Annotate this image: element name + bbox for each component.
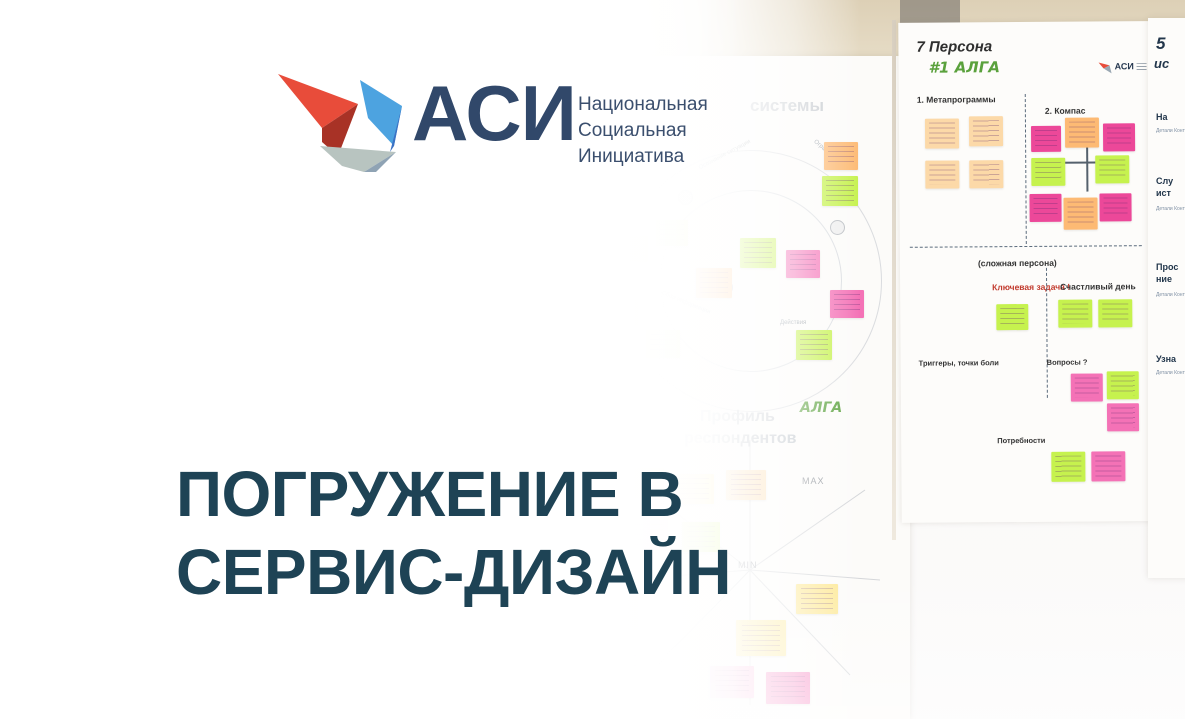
radial-node-3 <box>718 280 733 295</box>
sticky-note <box>796 584 838 614</box>
poster-right-h3: Прос <box>1156 262 1178 272</box>
sticky-note <box>1063 197 1097 229</box>
poster-section-compass: 2. Компас <box>1045 106 1086 116</box>
poster-persona-subtitle: #1 АЛГА <box>929 58 1000 76</box>
sticky-note <box>969 116 1003 146</box>
sticky-note <box>1051 452 1085 482</box>
asi-logo: АСИ Национальная Социальная Инициатива <box>276 52 716 172</box>
poster-right-h1: На <box>1156 112 1168 122</box>
poster-right-title: ис <box>1154 56 1169 71</box>
board-label-profile-1: Профиль <box>700 408 775 426</box>
poster-right-h3b: ние <box>1156 274 1172 284</box>
sticky-note <box>726 470 766 500</box>
sticky-note <box>1029 194 1061 222</box>
poster-right-body-3: Детали Контекст <box>1156 292 1185 300</box>
poster-right-h2: Слу <box>1156 176 1173 186</box>
sticky-note <box>766 672 810 704</box>
sticky-note <box>696 268 732 298</box>
ceiling-dark-patch <box>900 0 960 26</box>
sticky-note <box>822 176 858 206</box>
poster-divider-v2 <box>1046 268 1048 398</box>
sticky-note <box>925 118 959 148</box>
radial-label-2: Сбор информации <box>661 290 711 315</box>
ceiling-beam <box>600 0 1185 58</box>
sticky-note <box>1091 451 1125 481</box>
sticky-note <box>1031 158 1065 186</box>
board-label-max: MAX <box>802 476 825 486</box>
poster-right-h4: Узна <box>1156 354 1176 364</box>
compass-axis-h <box>1059 161 1115 163</box>
poster-section-happyday: Счастливый день <box>1060 281 1136 292</box>
poster-divider-v1 <box>1025 94 1027 244</box>
board-label-alga: АЛГА <box>800 400 842 416</box>
banner-root: системы Осознание ситуации Сбор информац… <box>0 0 1185 719</box>
sticky-note <box>1103 123 1135 151</box>
poster-right-h2b: ист <box>1156 188 1171 198</box>
poster-section-triggers: Триггеры, точки боли <box>919 358 999 368</box>
board-label-profile-2: респондентов <box>684 430 796 448</box>
sticky-note <box>1107 403 1139 431</box>
sticky-note <box>1071 373 1103 401</box>
poster-divider-h1 <box>910 245 1142 248</box>
radial-label-3: Ограничения <box>812 139 844 167</box>
page-title: ПОГРУЖЕНИЕ В СЕРВИС-ДИЗАЙН <box>176 455 731 611</box>
poster-right-body-1: Детали Контекст <box>1156 128 1185 136</box>
sticky-note <box>1058 300 1092 328</box>
poster-section-questions: Вопросы ? <box>1047 358 1088 367</box>
sticky-note <box>1098 299 1132 327</box>
sticky-note <box>1065 117 1099 147</box>
sticky-note <box>824 142 858 170</box>
poster-section-complex: (сложная персона) <box>978 258 1057 269</box>
sticky-note <box>740 238 776 268</box>
sticky-note <box>1095 155 1129 183</box>
sticky-note <box>1099 193 1131 221</box>
poster-right-body-4: Детали Контекст <box>1156 370 1185 378</box>
sticky-note <box>830 290 864 318</box>
board-edge <box>892 20 896 540</box>
asi-tagline: Национальная Социальная Инициатива <box>578 92 708 170</box>
mini-asi-word: АСИ <box>1115 61 1134 71</box>
sticky-note <box>969 160 1003 188</box>
radial-diagram-outer <box>620 150 882 412</box>
radial-node-2 <box>830 220 845 235</box>
compass-axis-v <box>1086 134 1088 192</box>
sticky-note <box>1107 371 1139 399</box>
poster-persona-title: 7 Персона <box>916 38 992 56</box>
radial-label-4: Действия <box>780 320 806 326</box>
radial-node-1 <box>678 190 693 205</box>
mini-asi-mark <box>1099 61 1115 74</box>
sticky-note <box>996 304 1028 330</box>
sticky-note <box>796 330 832 360</box>
board-label-min: MIN <box>738 560 758 570</box>
asi-wordmark: АСИ <box>412 74 576 152</box>
poster-right: 5 ис На Детали Контекст Слу ист Детали К… <box>1148 18 1185 578</box>
sticky-note <box>608 300 638 326</box>
sticky-note <box>656 220 688 246</box>
sticky-note <box>646 330 680 358</box>
poster-persona: 7 Персона #1 АЛГА АСИ 1. Метапрограммы 2… <box>898 21 1151 523</box>
poster-section-needs: Потребности <box>997 436 1045 445</box>
sticky-note <box>618 236 648 262</box>
poster-section-keytask: Ключевая задача ! <box>992 282 1070 293</box>
sticky-note <box>925 160 959 188</box>
sticky-note <box>600 210 624 236</box>
radial-diagram-inner <box>660 190 842 372</box>
sticky-note <box>736 620 786 656</box>
poster-right-body-2: Детали Контекст <box>1156 206 1185 214</box>
sticky-note <box>1031 126 1061 152</box>
sticky-note <box>786 250 820 278</box>
sticky-note <box>602 646 642 676</box>
asi-arrow-mark <box>276 60 404 172</box>
sticky-note <box>710 666 754 698</box>
sticky-note <box>600 352 626 378</box>
poster-right-number: 5 <box>1156 34 1165 54</box>
poster-asi-logo: АСИ <box>1099 61 1147 75</box>
board-label-systems: системы <box>750 96 824 116</box>
poster-section-metaprograms: 1. Метапрограммы <box>917 94 996 105</box>
mini-asi-bars <box>1137 63 1147 71</box>
